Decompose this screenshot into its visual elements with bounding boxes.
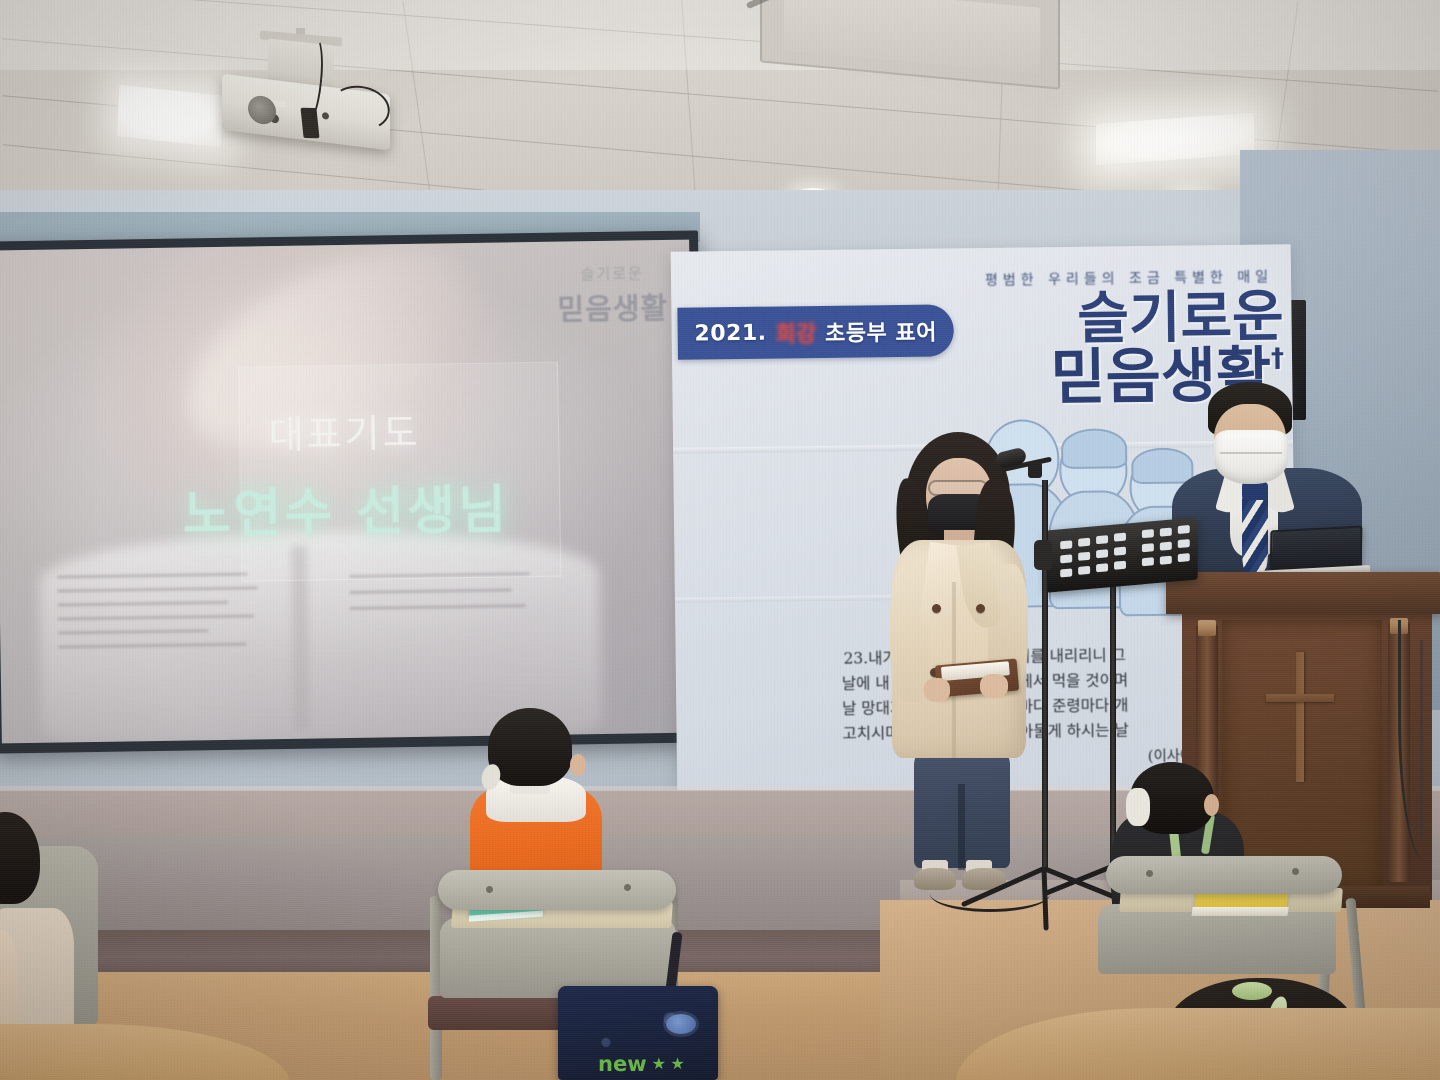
banner-pill-red-word: 희강	[775, 316, 816, 348]
child-face-mask	[1126, 788, 1150, 826]
slide-title-line1: 대표기도	[0, 398, 692, 464]
child-hair	[488, 708, 572, 786]
woman-hand	[980, 674, 1008, 698]
ceiling-light-panel	[117, 85, 224, 148]
banner-kid-hair	[1061, 428, 1127, 469]
microphone-stand-clutch	[1034, 540, 1052, 570]
banner-slogan-pill: 2021. 희강 초등부 표어	[677, 304, 954, 359]
photo-scene: 슬기로운 믿음생활 대표기도 노연수 선생님 평범한 우리들의 조금 특별한 매…	[0, 0, 1440, 1080]
child-ear	[1204, 794, 1219, 816]
pulpit-column-capital	[1198, 620, 1216, 636]
man-striped-tie	[1242, 490, 1268, 578]
microphone-cable	[930, 876, 1050, 912]
pulpit-cross-icon	[1296, 652, 1304, 782]
banner-title-line1: 슬기로운	[1049, 288, 1283, 348]
microphone-stand-pole	[1042, 480, 1048, 870]
child-backpack: new ★ ★	[558, 986, 718, 1080]
chair-backrest	[438, 870, 676, 910]
person-left-hair	[0, 812, 40, 904]
chair-backrest	[1106, 856, 1342, 894]
projection-screen-frame: 슬기로운 믿음생활 대표기도 노연수 선생님	[0, 230, 706, 753]
slide-title-block: 대표기도 노연수 선생님	[0, 398, 694, 551]
child-ear	[570, 754, 586, 776]
banner-pill-text: 초등부 표어	[825, 315, 937, 348]
microphone-stand-right	[1406, 640, 1440, 840]
slide-watermark-line2: 믿음생활	[557, 285, 668, 329]
slide-title-line2: 노연수 선생님	[0, 465, 694, 551]
projection-screen-surface: 슬기로운 믿음생활 대표기도 노연수 선생님	[0, 240, 697, 744]
woman-reading-at-microphone	[888, 432, 1058, 892]
pulpit-top-desk	[1166, 572, 1440, 614]
backpack-planet-graphic	[666, 1014, 696, 1034]
woman-leg-separation	[958, 784, 965, 870]
microphone-clip	[1028, 462, 1042, 478]
green-hair-clip	[1232, 982, 1272, 1000]
backpack-brand-text: new	[598, 1052, 647, 1076]
cross-icon: †	[1271, 343, 1284, 373]
man-face-mask	[1214, 430, 1288, 484]
banner-pill-year: 2021.	[694, 320, 766, 346]
star-icon: ★ ★	[652, 1054, 685, 1074]
slide-watermark: 슬기로운 믿음생활	[557, 262, 669, 329]
music-stand-desk	[1046, 517, 1197, 592]
slide-watermark-line1: 슬기로운	[557, 262, 668, 285]
woman-hand	[924, 678, 950, 702]
pulpit-cross-icon	[1266, 694, 1334, 702]
backpack-brand-label: new ★ ★	[598, 1052, 685, 1076]
coat-button	[976, 604, 985, 613]
man-tie-knot	[1242, 482, 1268, 500]
coat-button	[932, 604, 941, 613]
